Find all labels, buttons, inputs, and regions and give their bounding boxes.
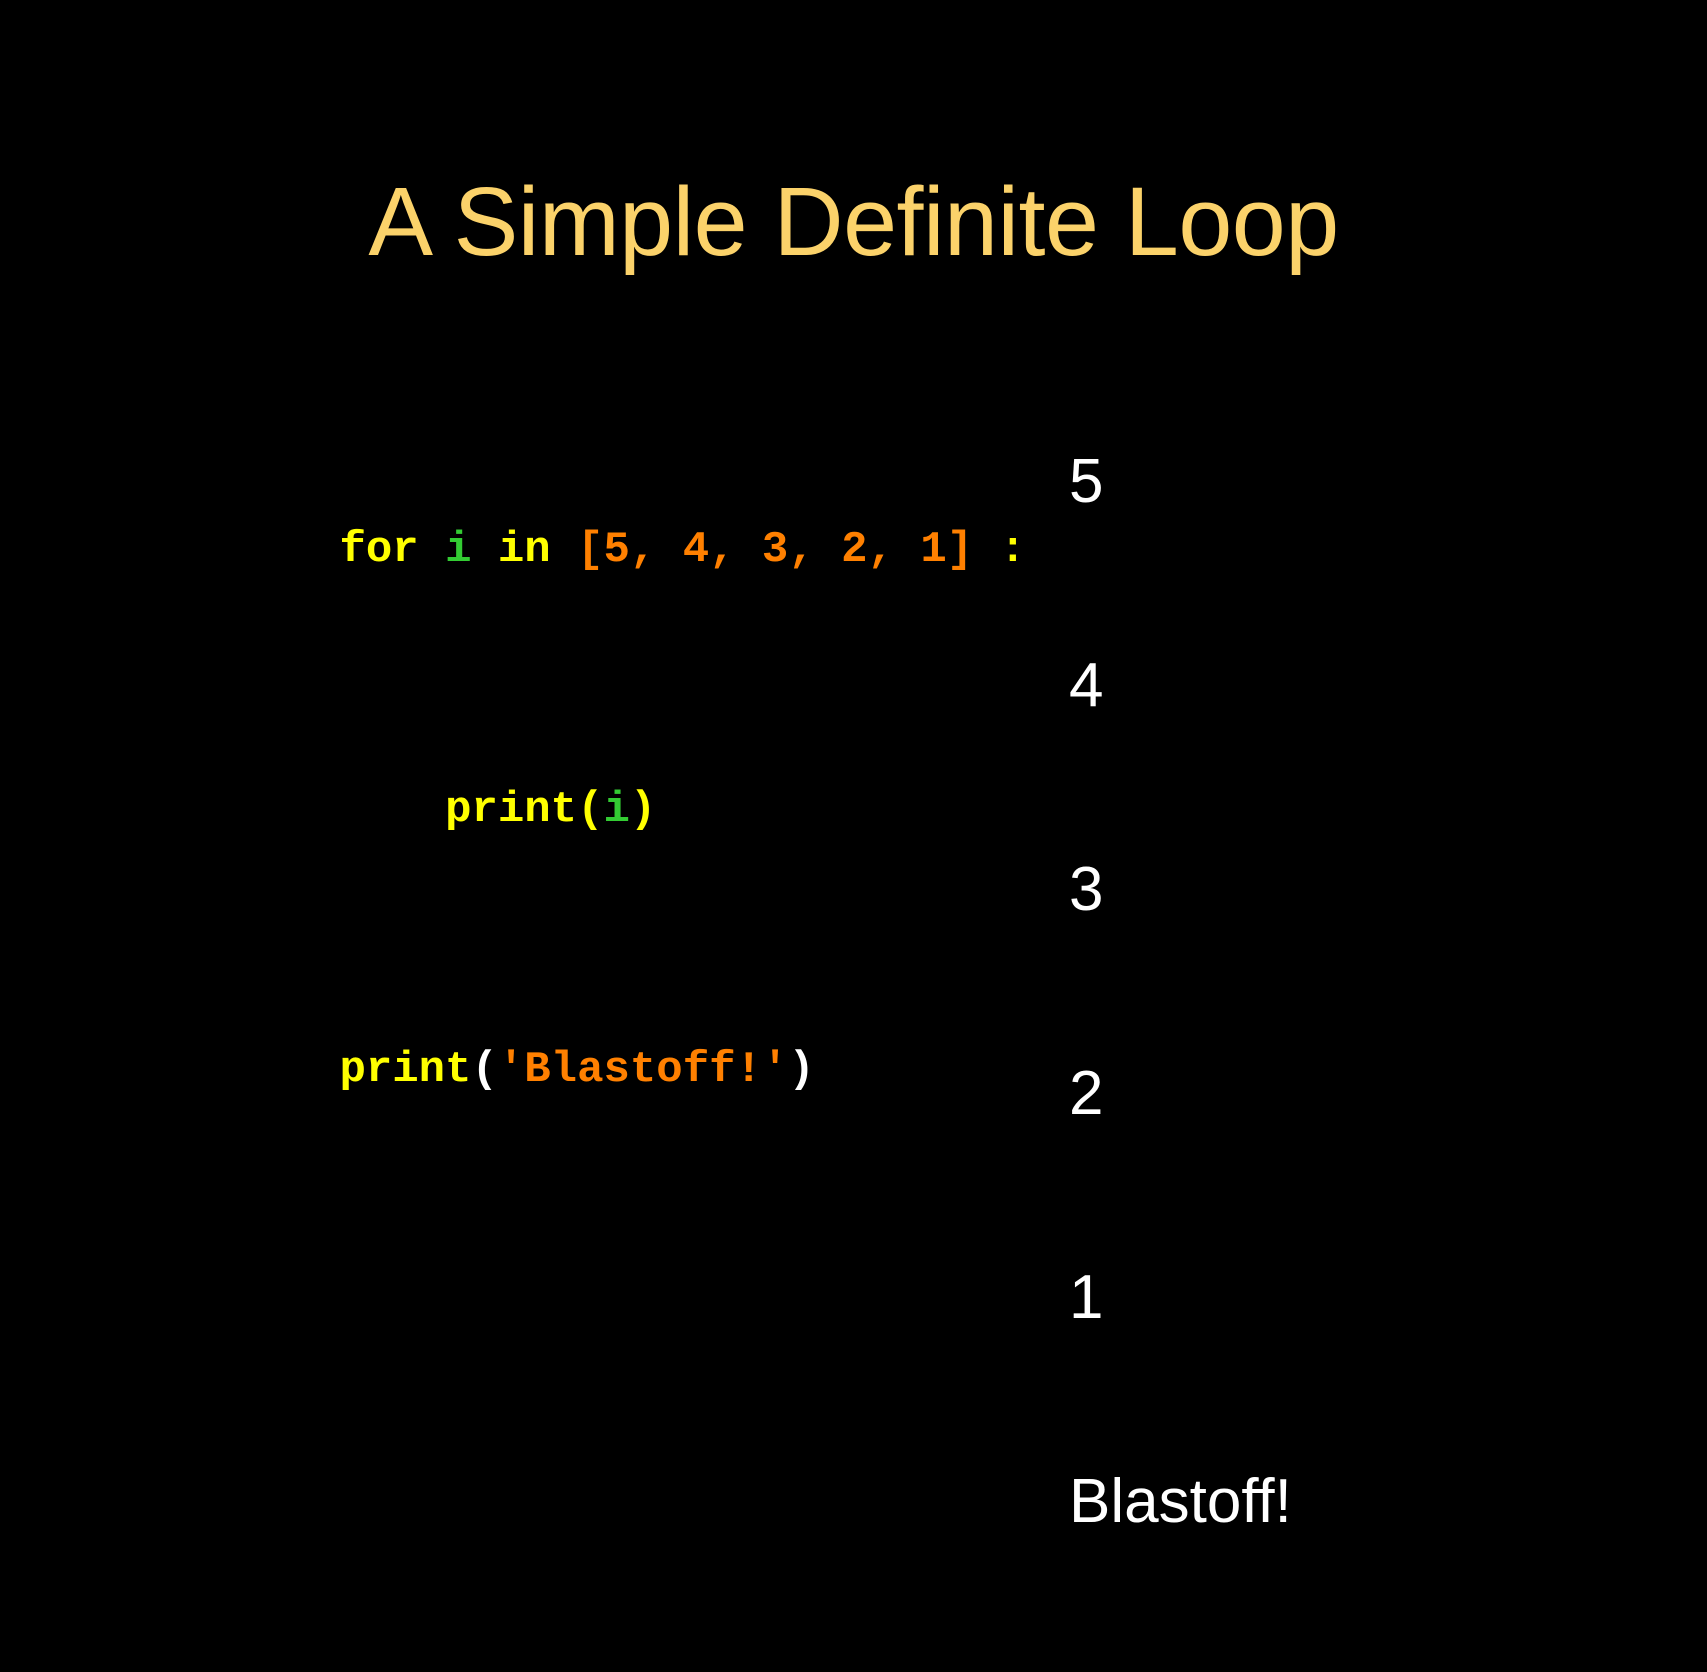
code-token-list-literal: [5, 4, 3, 2, 1] [577,525,973,575]
code-token-colon: : [973,525,1026,575]
code-token-for: for [339,525,418,575]
code-token-indent [339,785,445,835]
program-output: 5 4 3 2 1 Blastoff! [1069,312,1292,1672]
code-sample: for i in [5, 4, 3, 2, 1] : print(i) prin… [181,368,1026,1252]
code-token-space [419,525,445,575]
code-token-in: in [498,525,551,575]
code-line: for i in [5, 4, 3, 2, 1] : [181,472,1026,628]
output-line: 1 [1069,1264,1292,1332]
code-token-print: print [339,1045,471,1095]
code-token-print: print [445,785,577,835]
output-line: 4 [1069,652,1292,720]
code-token-space [551,525,577,575]
output-line: 3 [1069,856,1292,924]
code-token-open-paren: ( [471,1045,497,1095]
code-token-arg-var: i [604,785,630,835]
code-token-open-paren: ( [577,785,603,835]
output-line: 2 [1069,1060,1292,1128]
code-line: print(i) [181,732,1026,888]
slide-canvas: A Simple Definite Loop for i in [5, 4, 3… [0,0,1707,960]
code-token-space [471,525,497,575]
output-line: 5 [1069,448,1292,516]
code-token-close-paren: ) [788,1045,814,1095]
code-token-loop-var: i [445,525,471,575]
code-token-close-paren: ) [630,785,656,835]
code-token-string: 'Blastoff!' [498,1045,788,1095]
output-line: Blastoff! [1069,1468,1292,1536]
code-line: print('Blastoff!') [181,992,1026,1148]
page-title: A Simple Definite Loop [0,173,1707,270]
